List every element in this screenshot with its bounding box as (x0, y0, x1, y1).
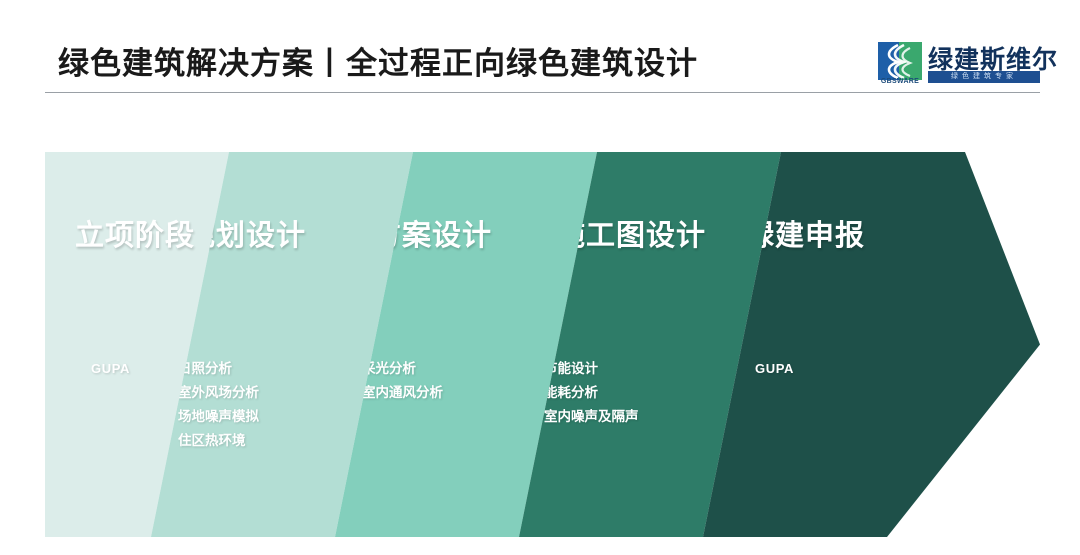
stage-item: 采光分析 (362, 357, 443, 381)
stage-item: GUPA (91, 357, 130, 381)
stage-item-list: 节能设计能耗分析室内噪声及隔声 (544, 357, 639, 429)
stage-item: 场地噪声模拟 (178, 405, 259, 429)
stage-item-list: GUPA (91, 357, 130, 381)
stage-item: GUPA (755, 357, 794, 381)
stage-item: 室内通风分析 (362, 381, 443, 405)
stage-item: 能耗分析 (544, 381, 639, 405)
stage-item-list: GUPA (755, 357, 794, 381)
stage-item: 室外风场分析 (178, 381, 259, 405)
stage-title: 立项阶段 (75, 212, 195, 254)
stage-item: 节能设计 (544, 357, 639, 381)
stage-item: 室内噪声及隔声 (544, 405, 639, 429)
stage-item: 住区热环境 (178, 429, 259, 453)
process-pipeline: 立项阶段GUPA规划设计日照分析室外风场分析场地噪声模拟住区热环境方案设计采光分… (0, 0, 1080, 555)
stage-item-list: 日照分析室外风场分析场地噪声模拟住区热环境 (178, 357, 259, 453)
stage-item: 日照分析 (178, 357, 259, 381)
stage-item-list: 采光分析室内通风分析 (362, 357, 443, 405)
